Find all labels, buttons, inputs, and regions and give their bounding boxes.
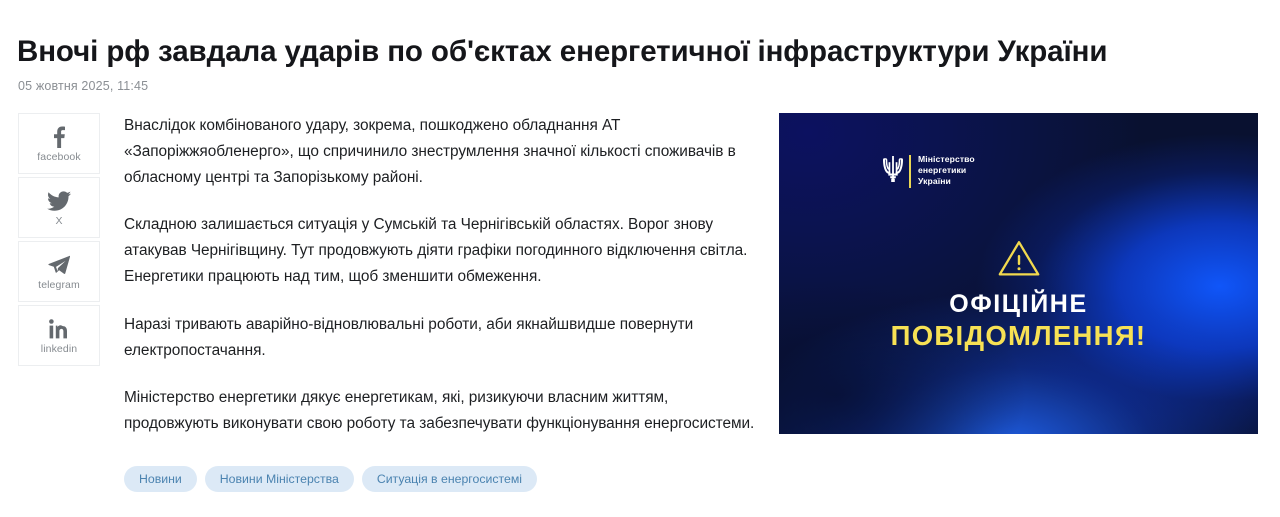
banner-title-official: ОФІЦІЙНЕ bbox=[779, 289, 1258, 319]
ukraine-trident-icon bbox=[883, 154, 903, 189]
tag-item-ministry-news[interactable]: Новини Міністерства bbox=[205, 466, 354, 492]
share-button-label: facebook bbox=[37, 151, 80, 164]
tag-item-energy-system-situation[interactable]: Ситуація в енергосистемі bbox=[362, 466, 537, 492]
banner-center-block: ОФІЦІЙНЕ ПОВІДОМЛЕННЯ! bbox=[779, 239, 1258, 352]
warning-triangle-icon bbox=[997, 239, 1041, 283]
share-button-linkedin[interactable]: linkedin bbox=[18, 305, 100, 366]
page-title: Вночі рф завдала ударів по об'єктах енер… bbox=[17, 34, 1265, 70]
facebook-icon bbox=[52, 124, 66, 150]
share-button-label: X bbox=[55, 215, 62, 228]
share-button-telegram[interactable]: telegram bbox=[18, 241, 100, 302]
share-button-x[interactable]: X bbox=[18, 177, 100, 238]
logo-line-1: Міністерство bbox=[918, 154, 975, 164]
ministry-logo-text: Міністерство енергетики України bbox=[918, 154, 975, 188]
share-button-label: telegram bbox=[38, 279, 80, 292]
logo-line-2: енергетики bbox=[918, 165, 966, 175]
share-button-facebook[interactable]: facebook bbox=[18, 113, 100, 174]
article-paragraph: Міністерство енергетики дякує енергетика… bbox=[124, 385, 756, 437]
article-page: Вночі рф завдала ударів по об'єктах енер… bbox=[0, 0, 1280, 517]
article-paragraph: Внаслідок комбінованого удару, зокрема, … bbox=[124, 113, 756, 190]
article-paragraph: Складною залишається ситуація у Сумській… bbox=[124, 212, 756, 289]
telegram-icon bbox=[48, 252, 70, 278]
logo-divider bbox=[909, 155, 911, 188]
banner-title-message: ПОВІДОМЛЕННЯ! bbox=[779, 320, 1258, 352]
article-paragraph: Наразі тривають аварійно-відновлювальні … bbox=[124, 312, 756, 364]
logo-line-3: України bbox=[918, 176, 951, 186]
share-buttons: facebook X telegram bbox=[18, 113, 100, 369]
tag-list: Новини Новини Міністерства Ситуація в ен… bbox=[124, 466, 537, 492]
article-body: Внаслідок комбінованого удару, зокрема, … bbox=[124, 113, 756, 437]
share-button-label: linkedin bbox=[41, 343, 77, 356]
article-image: Міністерство енергетики України ОФІЦІЙНЕ… bbox=[779, 113, 1258, 434]
twitter-bird-icon bbox=[47, 188, 71, 214]
tag-item-news[interactable]: Новини bbox=[124, 466, 197, 492]
ministry-logo: Міністерство енергетики України bbox=[883, 154, 975, 189]
linkedin-icon bbox=[49, 316, 69, 342]
publish-date: 05 жовтня 2025, 11:45 bbox=[18, 78, 148, 94]
